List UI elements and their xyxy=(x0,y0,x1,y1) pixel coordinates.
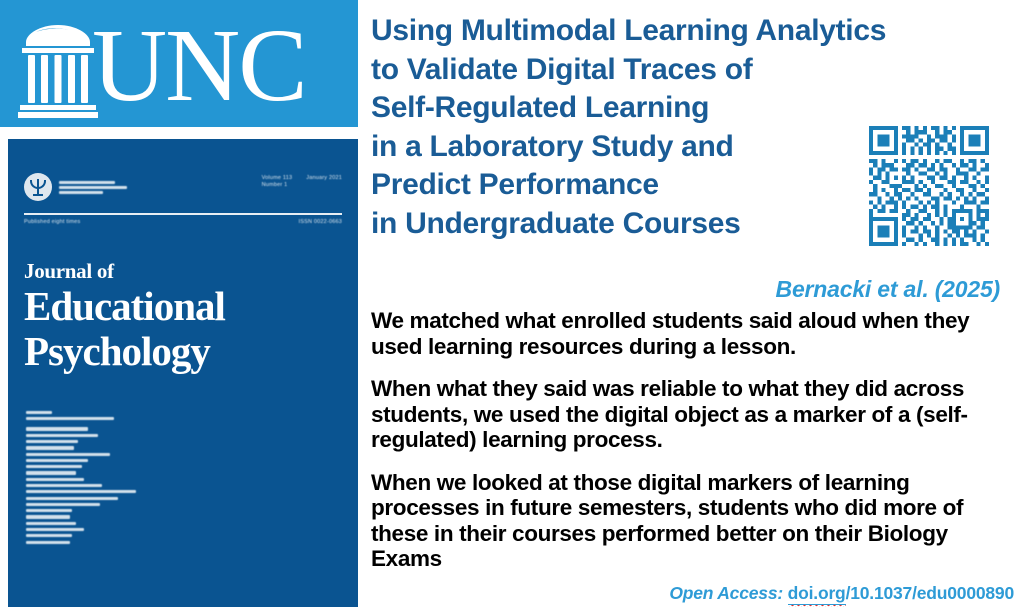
poster-slide: UNC Volume 113 Number 1 January 2021 Pub… xyxy=(0,0,1022,607)
summary-text: We matched what enrolled students said a… xyxy=(371,308,1016,572)
title-line-3: Self-Regulated Learning xyxy=(371,89,891,128)
open-access-link[interactable]: Open Access: doi.org/10.1037/edu0000890 xyxy=(669,583,1014,604)
cover-divider xyxy=(24,213,342,215)
apa-publisher-block xyxy=(24,173,127,201)
summary-paragraph-3: When we looked at those digital markers … xyxy=(371,470,1016,572)
cover-issue-date: January 2021 xyxy=(306,175,342,181)
cover-issn: ISSN 0022-0663 xyxy=(299,219,342,225)
author-credit: Bernacki et al. (2025) xyxy=(776,276,1000,302)
journal-title-line-1: Journal of xyxy=(24,259,304,284)
cover-frequency: Published eight times xyxy=(24,219,80,225)
cover-issue-number: Number 1 xyxy=(262,182,288,188)
journal-cover-image: Volume 113 Number 1 January 2021 Publish… xyxy=(8,139,358,607)
title-line-1: Using Multimodal Learning Analytics xyxy=(371,12,891,51)
qr-code-icon[interactable] xyxy=(869,126,989,246)
title-line-2: to Validate Digital Traces of xyxy=(371,51,891,90)
unc-brand-banner: UNC xyxy=(0,0,358,127)
journal-title-line-3: Psychology xyxy=(24,329,304,374)
unc-wordmark: UNC xyxy=(92,14,350,118)
apa-seal-icon xyxy=(24,173,52,201)
old-well-icon xyxy=(18,22,98,120)
journal-title-line-2: Educational xyxy=(24,284,304,329)
open-access-label: Open Access: xyxy=(669,583,783,603)
doi-host[interactable]: doi.org xyxy=(788,583,846,605)
summary-paragraph-1: We matched what enrolled students said a… xyxy=(371,308,1016,359)
apa-publisher-name xyxy=(59,181,127,194)
title-line-4: in a Laboratory Study and xyxy=(371,128,891,167)
title-line-6: in Undergraduate Courses xyxy=(371,205,891,244)
journal-title: Journal of Educational Psychology xyxy=(24,259,304,374)
title-line-5: Predict Performance xyxy=(371,166,891,205)
editorial-board-list xyxy=(26,411,186,551)
doi-path[interactable]: /10.1037/edu0000890 xyxy=(846,583,1014,603)
cover-volume-number: Volume 113 xyxy=(262,175,293,181)
page-title: Using Multimodal Learning Analytics to V… xyxy=(371,12,891,243)
summary-paragraph-2: When what they said was reliable to what… xyxy=(371,376,1016,453)
cover-volume-info: Volume 113 Number 1 January 2021 xyxy=(262,175,342,189)
